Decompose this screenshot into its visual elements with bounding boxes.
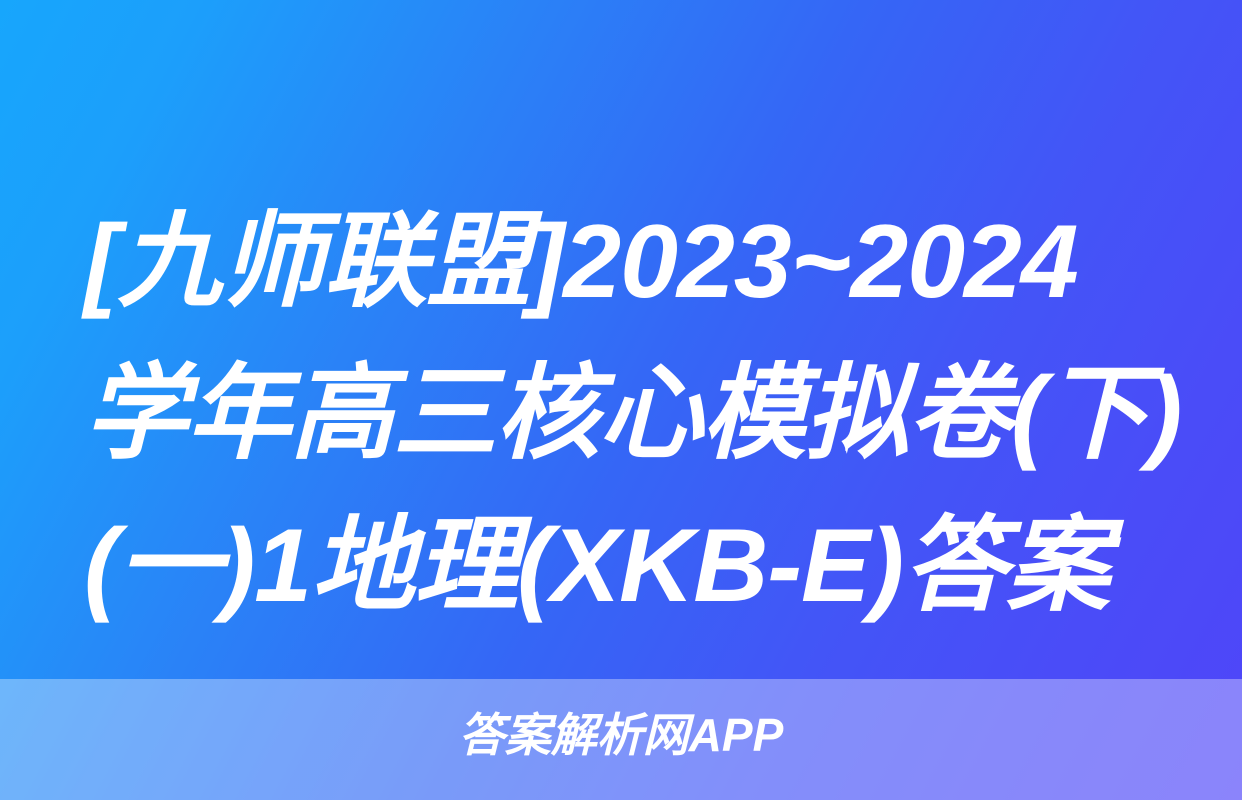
page-title: [九师联盟]2023~2024 学年高三核心模拟卷(下) (一)1地理(XKB-…: [84, 186, 1162, 642]
title-line-2: 学年高三核心模拟卷(下): [84, 338, 1162, 490]
exam-cover-card: [九师联盟]2023~2024 学年高三核心模拟卷(下) (一)1地理(XKB-…: [0, 0, 1242, 800]
title-line-1: [九师联盟]2023~2024: [84, 186, 1162, 338]
app-watermark: 答案解析网APP: [0, 705, 1242, 765]
title-line-3: (一)1地理(XKB-E)答案: [84, 490, 1162, 642]
